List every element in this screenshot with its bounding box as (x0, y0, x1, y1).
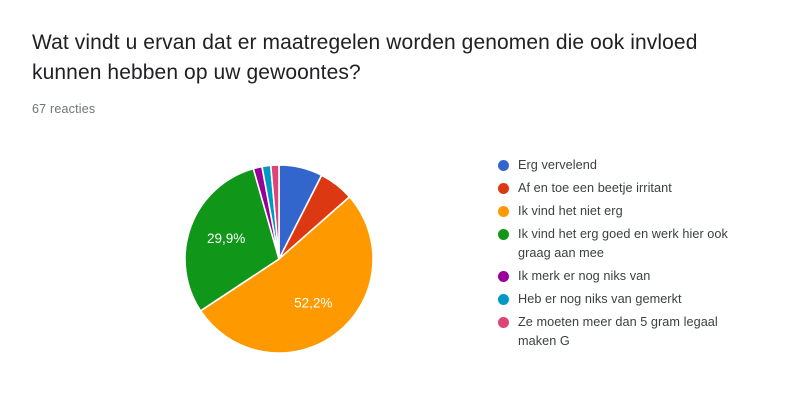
legend-label: Ik vind het niet erg (518, 202, 623, 221)
legend-label: Af en toe een beetje irritant (518, 179, 672, 198)
pie-chart[interactable]: 52,2%29,9% (184, 164, 374, 354)
chart-area: 52,2%29,9% Erg vervelendAf en toe een be… (0, 140, 800, 380)
page-title: Wat vindt u ervan dat er maatregelen wor… (32, 28, 732, 88)
legend-label: Erg vervelend (518, 156, 597, 175)
response-count: 67 reacties (32, 102, 740, 116)
legend-swatch-icon (498, 317, 509, 328)
legend-label: Ik merk er nog niks van (518, 267, 650, 286)
legend-item[interactable]: Ik vind het niet erg (498, 202, 760, 221)
legend-item[interactable]: Ik merk er nog niks van (498, 267, 760, 286)
legend-swatch-icon (498, 183, 509, 194)
legend-swatch-icon (498, 271, 509, 282)
legend-item[interactable]: Heb er nog niks van gemerkt (498, 290, 760, 309)
chart-legend: Erg vervelendAf en toe een beetje irrita… (498, 156, 760, 355)
legend-swatch-icon (498, 160, 509, 171)
response-chart-card: Wat vindt u ervan dat er maatregelen wor… (0, 0, 800, 406)
chart-header: Wat vindt u ervan dat er maatregelen wor… (32, 28, 740, 116)
legend-item[interactable]: Erg vervelend (498, 156, 760, 175)
pie-slice-value-label: 29,9% (207, 231, 245, 246)
legend-label: Ze moeten meer dan 5 gram legaal maken G (518, 313, 748, 351)
legend-item[interactable]: Ik vind het erg goed en werk hier ook gr… (498, 225, 760, 263)
legend-swatch-icon (498, 294, 509, 305)
legend-swatch-icon (498, 229, 509, 240)
pie-slice-value-label: 52,2% (294, 295, 332, 310)
legend-item[interactable]: Af en toe een beetje irritant (498, 179, 760, 198)
pie-slices (185, 165, 373, 353)
pie-chart-svg: 52,2%29,9% (184, 164, 374, 354)
legend-item[interactable]: Ze moeten meer dan 5 gram legaal maken G (498, 313, 760, 351)
legend-label: Heb er nog niks van gemerkt (518, 290, 682, 309)
legend-swatch-icon (498, 206, 509, 217)
legend-label: Ik vind het erg goed en werk hier ook gr… (518, 225, 748, 263)
